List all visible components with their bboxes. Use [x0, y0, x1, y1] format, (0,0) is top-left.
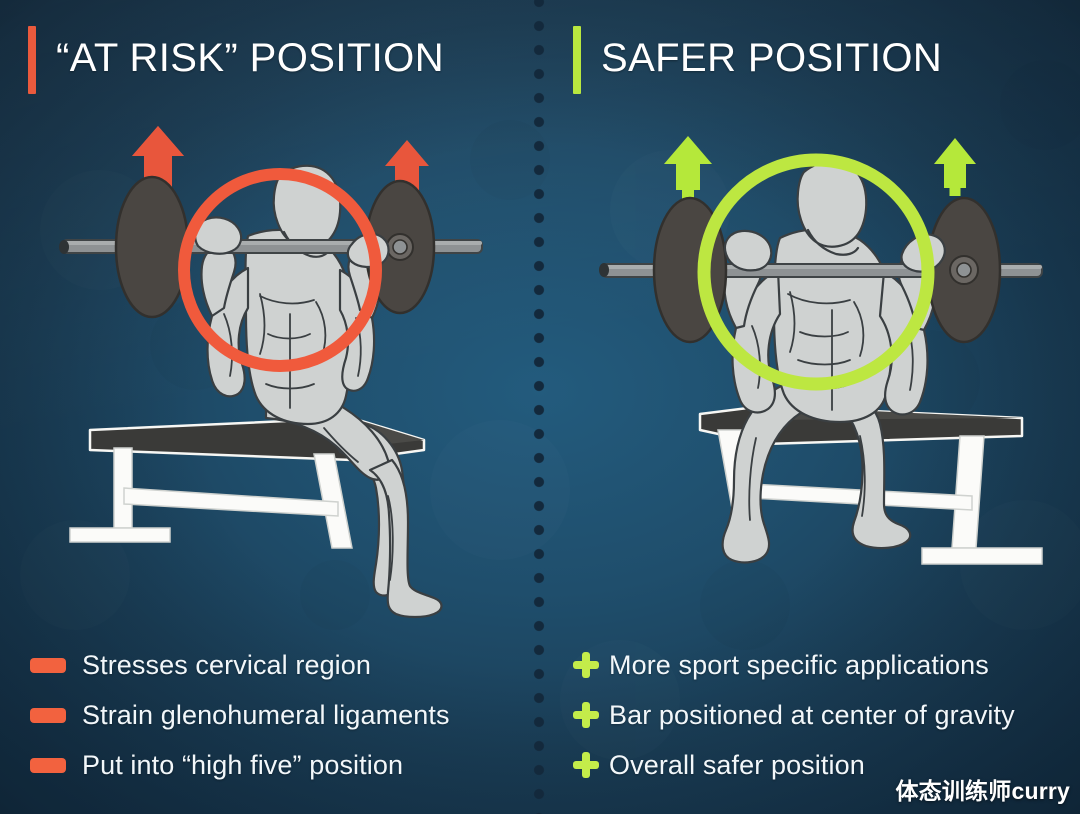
bullet-text: Bar positioned at center of gravity: [609, 700, 1015, 731]
illustration-at-risk: [52, 118, 512, 618]
bullet-text: Strain glenohumeral ligaments: [82, 700, 450, 731]
dotted-divider: [533, 0, 545, 814]
bullet-text: Put into “high five” position: [82, 750, 403, 781]
bullet-text: Stresses cervical region: [82, 650, 371, 681]
plus-marker-icon: [573, 752, 599, 778]
bullet-list-at-risk: Stresses cervical region Strain glenohum…: [30, 640, 530, 790]
arrow-up-icon-right-2: [934, 138, 976, 196]
list-item: More sport specific applications: [573, 640, 1073, 690]
bullet-text: Overall safer position: [609, 750, 865, 781]
panel-header-safer: SAFER POSITION: [573, 26, 942, 94]
minus-marker-icon: [30, 708, 66, 723]
bullet-text: More sport specific applications: [609, 650, 989, 681]
illustration-safer: [592, 118, 1062, 618]
list-item: Bar positioned at center of gravity: [573, 690, 1073, 740]
list-item: Strain glenohumeral ligaments: [30, 690, 530, 740]
page-title-at-risk: “AT RISK” POSITION: [56, 38, 444, 82]
minus-marker-icon: [30, 658, 66, 673]
panel-header-at-risk: “AT RISK” POSITION: [28, 26, 444, 94]
plus-marker-icon: [573, 652, 599, 678]
list-item: Put into “high five” position: [30, 740, 530, 790]
accent-bar-risk: [28, 26, 36, 94]
infographic-canvas: “AT RISK” POSITION SAFER POSITION: [0, 0, 1080, 814]
bullet-list-safer: More sport specific applications Bar pos…: [573, 640, 1073, 790]
accent-bar-safe: [573, 26, 581, 94]
page-title-safer: SAFER POSITION: [601, 38, 942, 82]
minus-marker-icon: [30, 758, 66, 773]
arrow-up-icon-right-1: [664, 136, 712, 200]
watermark: 体态训练师curry: [895, 772, 1070, 806]
plus-marker-icon: [573, 702, 599, 728]
list-item: Stresses cervical region: [30, 640, 530, 690]
